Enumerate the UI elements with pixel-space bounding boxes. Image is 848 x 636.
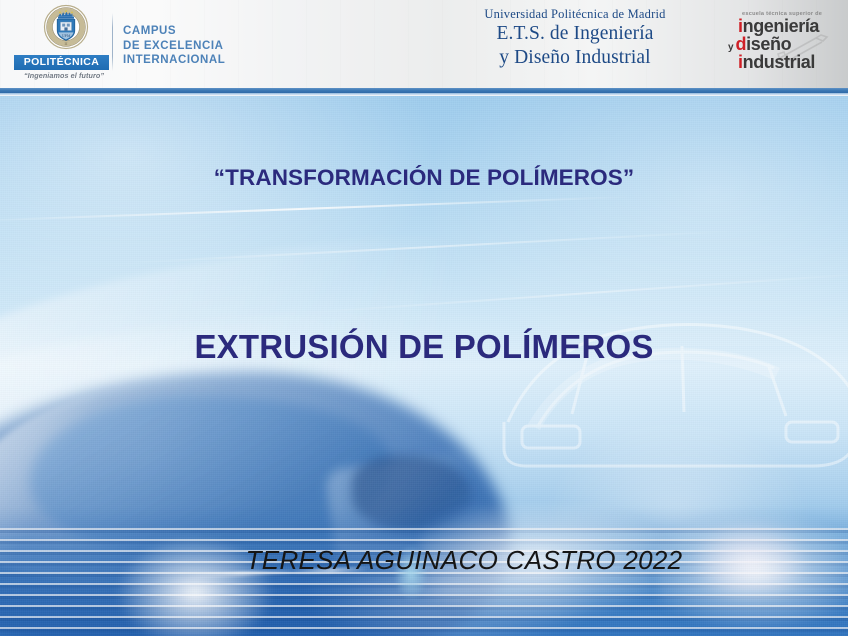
sky-glow-top-right bbox=[428, 96, 848, 346]
sky-glow-top-left bbox=[0, 96, 440, 336]
upm-logo-block: UPM II POLITÉCNICA “Ingeniamos el futuro… bbox=[14, 2, 110, 86]
presentation-title-slide: UPM II POLITÉCNICA “Ingeniamos el futuro… bbox=[0, 0, 848, 636]
diagonal-swoosh-3 bbox=[0, 377, 505, 566]
campus-line-1: CAMPUS bbox=[123, 24, 225, 39]
blurred-car-hood bbox=[0, 372, 510, 636]
svg-text:II: II bbox=[64, 41, 68, 46]
etsidi-word-3-rest: ndustrial bbox=[743, 52, 815, 72]
page-title: EXTRUSIÓN DE POLÍMEROS bbox=[0, 328, 848, 366]
subject-title: “TRANSFORMACIÓN DE POLÍMEROS” bbox=[0, 165, 848, 191]
etsidi-word-industrial: industrial bbox=[738, 53, 815, 71]
upm-tagline: “Ingeniamos el futuro” bbox=[14, 71, 114, 80]
upm-crowned-shield-seal-icon: UPM II bbox=[42, 4, 90, 52]
campus-excellence-text: CAMPUS DE EXCELENCIA INTERNACIONAL bbox=[123, 24, 225, 68]
upm-wordmark: POLITÉCNICA bbox=[14, 55, 109, 70]
etsidi-word-2-prefix: y bbox=[728, 42, 736, 53]
school-line-3: y Diseño Industrial bbox=[430, 46, 720, 70]
etsidi-word-2-rest: iseño bbox=[746, 34, 791, 54]
light-streak-1 bbox=[0, 196, 630, 222]
school-line-2: E.T.S. de Ingeniería bbox=[430, 22, 720, 46]
light-streak-3 bbox=[301, 272, 848, 314]
school-line-1: Universidad Politécnica de Madrid bbox=[430, 6, 720, 22]
campus-line-2: DE EXCELENCIA bbox=[123, 39, 225, 54]
etsidi-word-1-rest: ngeniería bbox=[743, 16, 819, 36]
ghost-car-outline-icon bbox=[468, 226, 848, 506]
blurred-side-mirror bbox=[352, 456, 472, 530]
blurred-windshield bbox=[30, 396, 390, 556]
light-streak-2 bbox=[120, 230, 739, 264]
author-credit: TERESA AGUINACO CASTRO 2022 bbox=[0, 545, 848, 576]
school-name-text: Universidad Politécnica de Madrid E.T.S.… bbox=[430, 6, 720, 70]
etsidi-red-d: d bbox=[736, 34, 747, 54]
svg-text:UPM: UPM bbox=[62, 34, 71, 38]
right-mid-glow bbox=[548, 416, 808, 616]
etsidi-word-ingenieria: ingeniería bbox=[738, 17, 819, 35]
diagonal-swoosh-1 bbox=[0, 200, 606, 578]
campus-line-3: INTERNACIONAL bbox=[123, 53, 225, 68]
header-divider-glow bbox=[0, 93, 848, 96]
header-vertical-divider bbox=[112, 13, 113, 71]
etsidi-logo: escuela técnica superior de ingeniería y… bbox=[716, 8, 834, 82]
center-glow bbox=[300, 526, 600, 636]
